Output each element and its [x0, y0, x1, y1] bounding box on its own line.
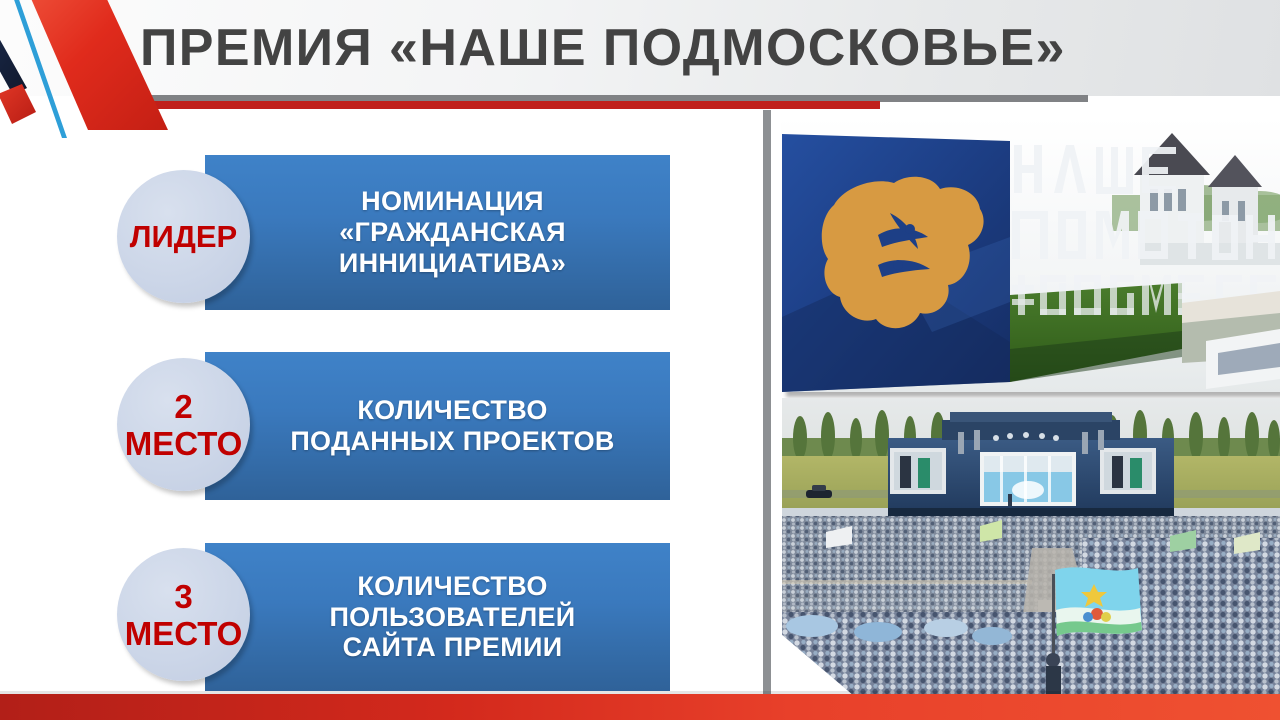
corner-decoration [0, 0, 240, 190]
badge-bar-3-text: КОЛИЧЕСТВО ПОЛЬЗОВАТЕЛЕЙ САЙТА ПРЕМИИ [329, 571, 575, 663]
badge-rank-label: МЕСТО [125, 617, 243, 650]
badge-rank-label: МЕСТО [125, 427, 243, 460]
flag-bearer [1046, 653, 1061, 694]
badge-bar-3[interactable]: КОЛИЧЕСТВО ПОЛЬЗОВАТЕЛЕЙ САЙТА ПРЕМИИ [205, 543, 670, 691]
header-rule-red [143, 101, 880, 109]
red-diamond [0, 84, 36, 124]
badge-rank-number: 2 [174, 390, 192, 423]
crowd-near [782, 612, 1280, 694]
badge-line: ПОДАННЫХ ПРОЕКТОВ [290, 426, 614, 457]
red-diagonal-bar [23, 0, 168, 130]
badge-bar-1-text: НОМИНАЦИЯ «ГРАЖДАНСКАЯ ИННИЦИАТИВА» [339, 186, 566, 278]
badge-rank-number: 3 [174, 580, 192, 613]
badge-line: КОЛИЧЕСТВО [290, 395, 614, 426]
page-title: ПРЕМИЯ «НАШЕ ПОДМОСКОВЬЕ» [140, 17, 1240, 79]
badge-rank-label: ЛИДЕР [130, 221, 237, 252]
badge-line: ИННИЦИАТИВА» [339, 248, 566, 279]
photo-award-ceremony-crowd[interactable] [782, 398, 1280, 694]
photo-ceremony-artwork [782, 398, 1280, 694]
badge-line: САЙТА ПРЕМИИ [329, 632, 575, 663]
photo-banner-nashe-podmoskovye[interactable] [782, 117, 1280, 392]
badge-line: ПОЛЬЗОВАТЕЛЕЙ [329, 602, 575, 633]
navy-diagonal-bar [0, 22, 27, 95]
badge-rank-circle-2[interactable]: 2 МЕСТО [117, 358, 250, 491]
photo-banner-artwork [782, 117, 1280, 392]
badge-bar-2-text: КОЛИЧЕСТВО ПОДАННЫХ ПРОЕКТОВ [290, 395, 614, 457]
badge-rank-circle-1[interactable]: ЛИДЕР [117, 170, 250, 303]
badge-bar-2[interactable]: КОЛИЧЕСТВО ПОДАННЫХ ПРОЕКТОВ [205, 352, 670, 500]
slide-canvas: ПРЕМИЯ «НАШЕ ПОДМОСКОВЬЕ» [0, 0, 1280, 720]
vertical-divider [763, 110, 771, 720]
footer-bar [0, 694, 1280, 720]
badge-line: НОМИНАЦИЯ [339, 186, 566, 217]
badge-line: КОЛИЧЕСТВО [329, 571, 575, 602]
badge-line: «ГРАЖДАНСКАЯ [339, 217, 566, 248]
badge-rank-circle-3[interactable]: 3 МЕСТО [117, 548, 250, 681]
badge-bar-1[interactable]: НОМИНАЦИЯ «ГРАЖДАНСКАЯ ИННИЦИАТИВА» [205, 155, 670, 310]
